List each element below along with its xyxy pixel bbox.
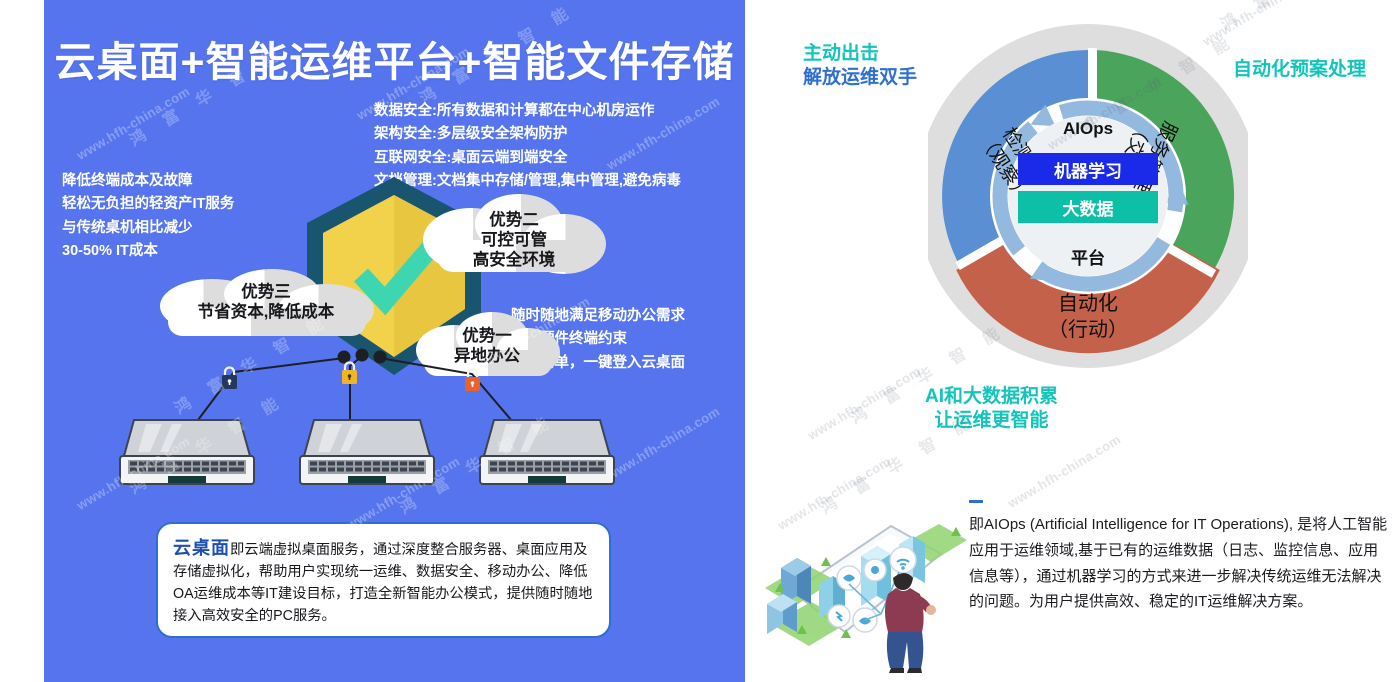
label-automation-plan: 自动化预案处理: [1233, 58, 1366, 82]
right-white-panel: 主动出击 解放运维双手 自动化预案处理 AI和大数据积累 让运维更智能: [745, 0, 1400, 682]
watermark-url: www.hfh-china.com: [1005, 432, 1123, 511]
cloud-line: 优势三: [154, 282, 378, 302]
cloud-line: 高安全环境: [419, 250, 609, 270]
label-proactive: 主动出击 解放运维双手: [803, 42, 917, 91]
label-proactive-line1: 主动出击: [803, 42, 917, 66]
label-accum-line1: AI和大数据积累: [925, 385, 1058, 409]
svg-text:（行动）: （行动）: [1048, 318, 1128, 341]
padlock-icon-navy: [220, 365, 239, 391]
padlock-icon-gold: [340, 360, 359, 386]
laptop-icon: [476, 418, 618, 488]
paragraph-dash-marker: [969, 500, 983, 503]
aiops-circular-diagram: 检测 （观察） 服务管理 （交互） 自动化 （行动）: [928, 18, 1248, 378]
cloud-line: 优势一: [412, 326, 562, 346]
left-blue-panel: 云桌面+智能运维平台+智能文件存储 数据安全:所有数据和计算都在中心机房运作 架…: [44, 0, 745, 682]
cloud-line: 节省资本,降低成本: [154, 302, 378, 322]
cloud-line: 异地办公: [412, 346, 562, 366]
laptop-icon: [296, 418, 438, 488]
aiops-description-paragraph: 即AIOps (Artificial Intelligence for IT O…: [969, 512, 1389, 615]
svg-text:自动化: 自动化: [1058, 292, 1118, 315]
cloud-line: 可控可管: [419, 230, 609, 250]
cloud-line: 优势二: [419, 210, 609, 230]
infographic-root: 云桌面+智能运维平台+智能文件存储 数据安全:所有数据和计算都在中心机房运作 架…: [0, 0, 1400, 682]
connector-lines: [44, 0, 745, 682]
laptop-icon: [116, 418, 258, 488]
label-proactive-line2: 解放运维双手: [803, 66, 917, 90]
padlock-icon-orange: [463, 367, 482, 393]
